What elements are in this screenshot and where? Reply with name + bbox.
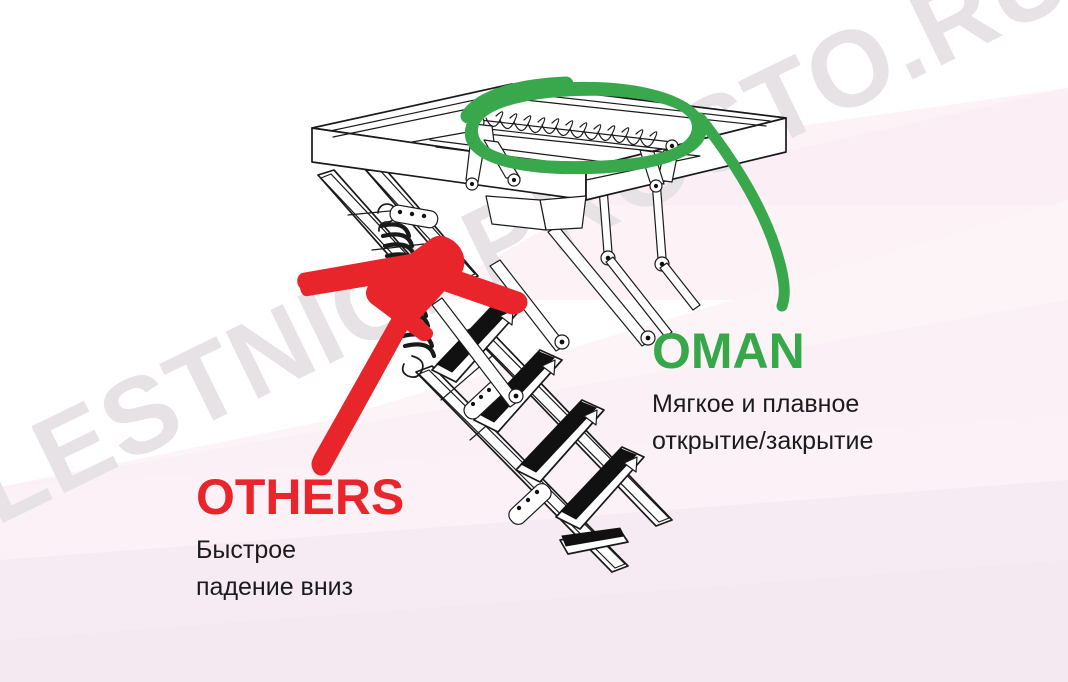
hatch-frame-box [312, 84, 786, 230]
callout-others: OTHERS Быстрое падение вниз [196, 472, 496, 606]
others-description-line2: падение вниз [196, 569, 496, 606]
callout-oman: OMAN Мягкое и плавное открытие/закрытие [652, 326, 982, 460]
oman-brand-title: OMAN [652, 326, 982, 376]
others-brand-title: OTHERS [196, 472, 496, 522]
illustration-canvas: LESTNICI-PROSTO.RU .ln{fill:none;stroke:… [0, 0, 1068, 682]
oman-description-line2: открытие/закрытие [652, 423, 982, 460]
oman-description-line1: Мягкое и плавное [652, 386, 982, 423]
support-struts [598, 175, 700, 337]
others-description-line1: Быстрое [196, 532, 496, 569]
